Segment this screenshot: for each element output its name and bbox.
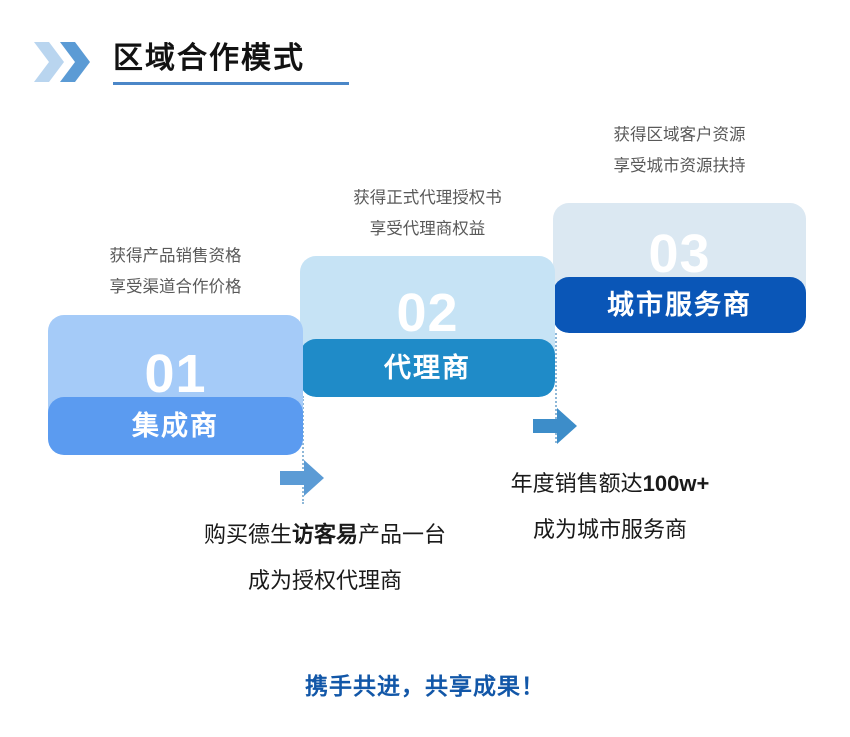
chevron-right-icon-dark xyxy=(60,42,90,82)
benefits-step-2: 获得正式代理授权书 享受代理商权益 xyxy=(300,183,555,245)
step-card-3[interactable]: 03 城市服务商 xyxy=(553,203,806,333)
requirement-text-prefix: 年度销售额达 xyxy=(511,471,643,496)
benefit-line: 享受代理商权益 xyxy=(300,214,555,245)
page-header: 区域合作模式 xyxy=(0,0,850,110)
requirement-line-2: 成为授权代理商 xyxy=(125,558,525,604)
page-title: 区域合作模式 xyxy=(113,40,363,78)
step-ribbon-1: 集成商 xyxy=(48,397,303,455)
requirement-line-1: 年度销售额达100w+ xyxy=(450,461,770,507)
benefit-line: 获得区域客户资源 xyxy=(553,120,806,151)
requirement-text-prefix: 购买德生 xyxy=(204,522,292,547)
step-number-2: 02 xyxy=(300,286,555,340)
benefit-line: 享受城市资源扶持 xyxy=(553,151,806,182)
page-title-block: 区域合作模式 xyxy=(113,40,363,85)
requirement-step-2: 年度销售额达100w+ 成为城市服务商 xyxy=(450,461,770,553)
step-card-2[interactable]: 02 代理商 xyxy=(300,256,555,397)
benefits-step-1: 获得产品销售资格 享受渠道合作价格 xyxy=(48,241,303,303)
benefit-line: 享受渠道合作价格 xyxy=(48,272,303,303)
title-underline xyxy=(113,82,349,85)
step-ribbon-3: 城市服务商 xyxy=(553,277,806,333)
step-name-3: 城市服务商 xyxy=(607,292,752,319)
region-cooperation-infographic: 区域合作模式 获得产品销售资格 享受渠道合作价格 获得正式代理授权书 享受代理商… xyxy=(0,0,850,737)
requirement-line-2: 成为城市服务商 xyxy=(450,507,770,553)
arrow-right-icon-step-1 xyxy=(280,460,324,496)
benefit-line: 获得正式代理授权书 xyxy=(300,183,555,214)
step-name-1: 集成商 xyxy=(132,413,219,440)
step-number-1: 01 xyxy=(48,347,303,401)
step-ribbon-2: 代理商 xyxy=(300,339,555,397)
requirement-text-highlight: 100w+ xyxy=(643,471,710,496)
chevron-decoration xyxy=(34,42,112,82)
step-name-2: 代理商 xyxy=(384,355,471,382)
step-card-1[interactable]: 01 集成商 xyxy=(48,315,303,455)
benefits-step-3: 获得区域客户资源 享受城市资源扶持 xyxy=(553,120,806,182)
arrow-right-icon-step-2 xyxy=(533,408,577,444)
requirement-text-suffix: 产品一台 xyxy=(358,522,446,547)
slogan: 携手共进，共享成果！ xyxy=(0,670,850,702)
requirement-text-highlight: 访客易 xyxy=(292,522,358,547)
step-number-3: 03 xyxy=(553,227,806,281)
benefit-line: 获得产品销售资格 xyxy=(48,241,303,272)
